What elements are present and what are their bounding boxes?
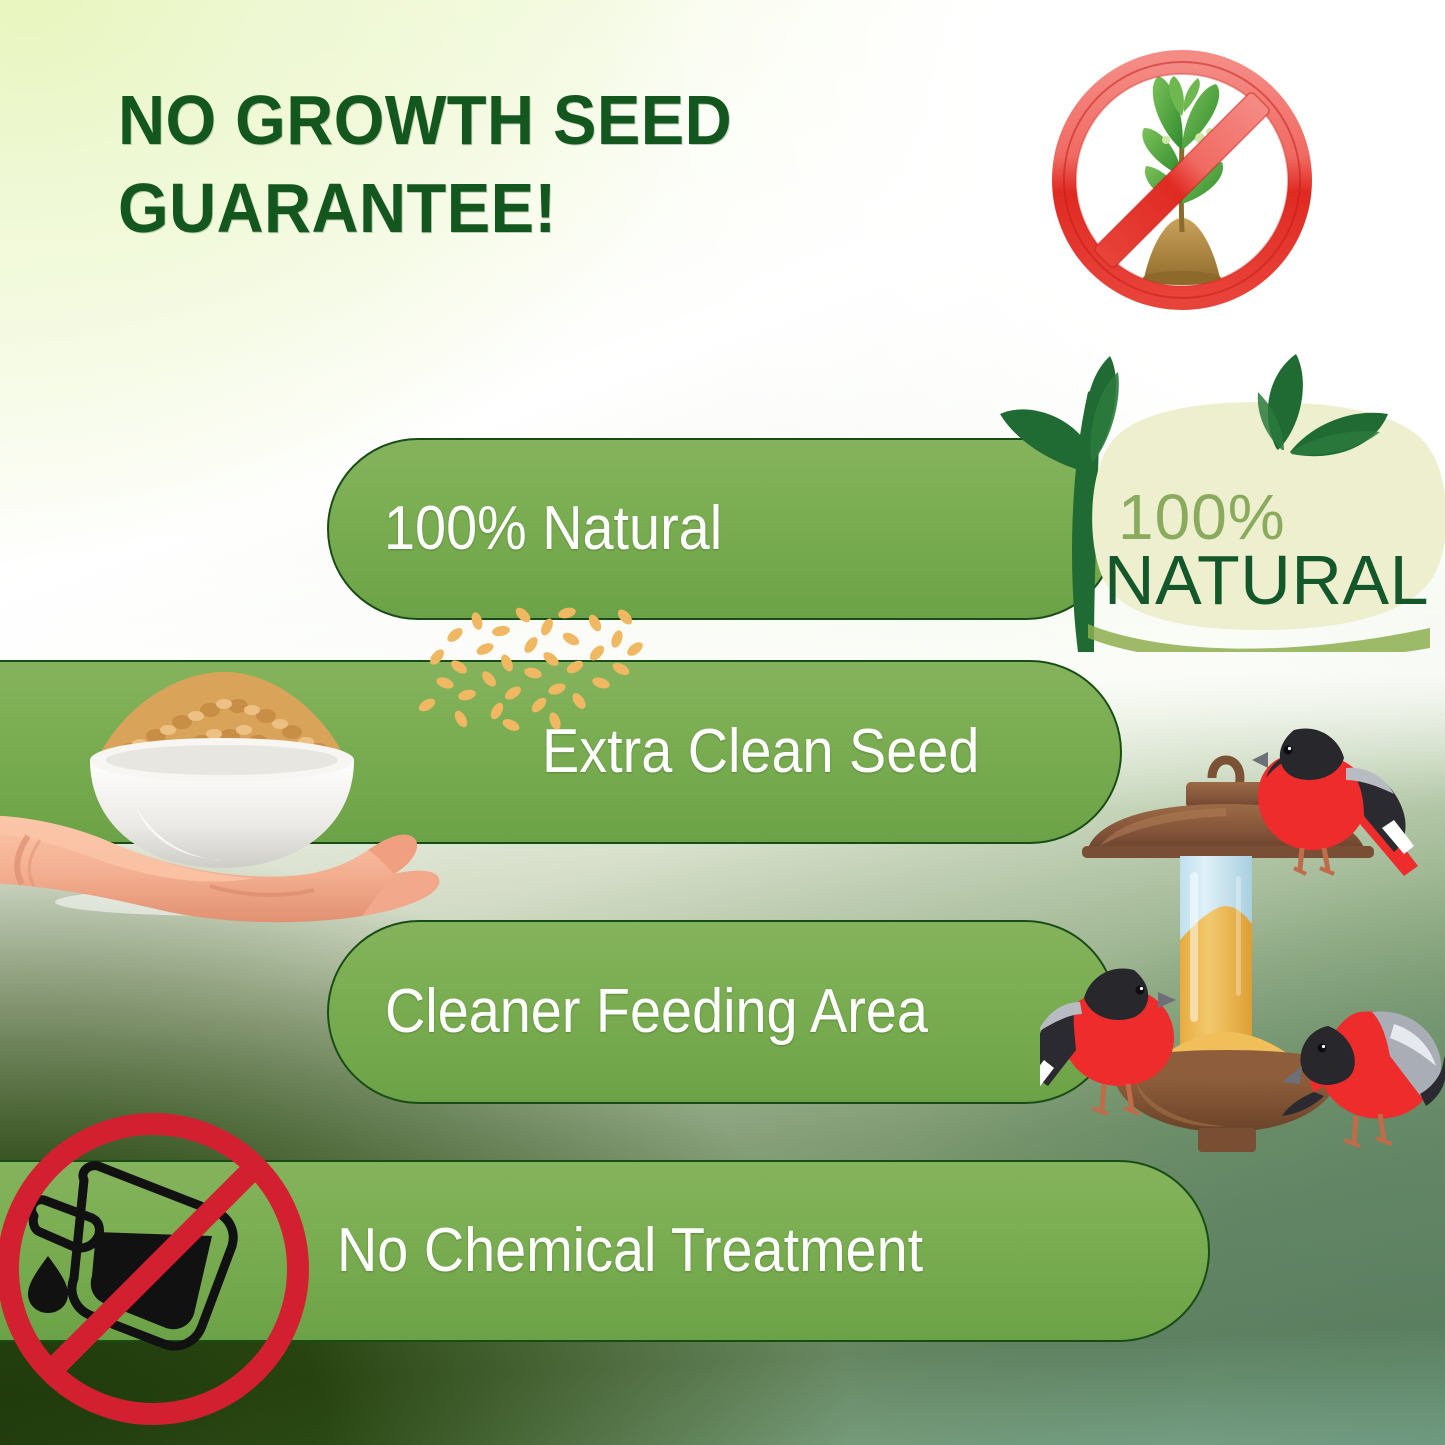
feature-bar-label: No Chemical Treatment xyxy=(337,1220,923,1282)
feature-bar-label: 100% Natural xyxy=(384,498,722,560)
feature-bar-label: Cleaner Feeding Area xyxy=(385,981,928,1043)
falling-seeds-icon xyxy=(415,605,645,740)
no-plant-growth-icon xyxy=(1048,46,1316,314)
badge-natural-label: NATURAL xyxy=(1104,540,1429,620)
bird-feeder-icon xyxy=(1040,700,1445,1170)
page-title-line-2: GUARANTEE! xyxy=(118,164,955,252)
no-chemical-icon xyxy=(0,1104,318,1434)
chemical-drop xyxy=(28,1256,68,1313)
chemical-flask-graphic xyxy=(28,1166,233,1346)
page-title: NO GROWTH SEED GUARANTEE! xyxy=(118,76,955,252)
product-infographic: NO GROWTH SEED GUARANTEE! 100% Natural E… xyxy=(0,0,1445,1445)
feature-bar: Cleaner Feeding Area xyxy=(327,920,1117,1104)
page-title-line-1: NO GROWTH SEED xyxy=(118,76,955,164)
